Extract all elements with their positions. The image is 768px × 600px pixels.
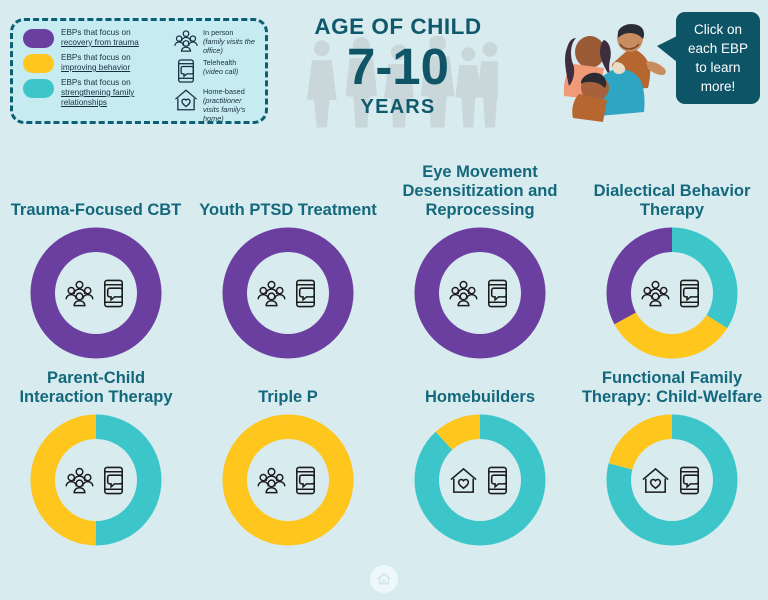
telehealth-phone-icon (290, 464, 321, 497)
donut-chart-trauma-focused-cbt[interactable] (30, 227, 162, 359)
legend-teal-emphasis: strengthening family relationships (61, 88, 134, 107)
donut-chart-triple-p[interactable] (222, 414, 354, 546)
legend-home-based-detail: (practitioner visits family's home) (203, 96, 245, 123)
donut-center-icons (247, 252, 329, 334)
ebp-card-dialectical-behavior-therapy[interactable]: Dialectical Behavior Therapy (576, 160, 768, 359)
ebp-card-functional-family-therapy-child-welfare[interactable]: Functional Family Therapy: Child-Welfare (576, 359, 768, 546)
legend-purple-emphasis: recovery from trauma (61, 38, 139, 47)
home-based-house-heart-icon (173, 87, 199, 113)
donut-chart-dialectical-behavior-therapy[interactable] (606, 227, 738, 359)
in-person-group-icon (640, 277, 671, 310)
legend-delivery-home-based: Home-based (practitioner visits family's… (173, 87, 257, 123)
donut-center-icons (631, 252, 713, 334)
donut-chart-homebuilders[interactable] (414, 414, 546, 546)
in-person-group-icon (256, 277, 287, 310)
header-title-block: AGE OF CHILD 7-10 YEARS (282, 8, 514, 140)
donut-chart-parent-child-interaction-therapy[interactable] (30, 414, 162, 546)
ebp-title: Trauma-Focused CBT (3, 160, 189, 220)
click-callout-bubble[interactable]: Click on each EBP to learn more! (676, 12, 760, 104)
in-person-group-icon (448, 277, 479, 310)
donut-center-icons (439, 252, 521, 334)
ebp-card-homebuilders[interactable]: Homebuilders (384, 359, 576, 546)
legend-telehealth-detail: (video call) (203, 67, 238, 76)
donut-center-icons (247, 439, 329, 521)
legend-yellow-emphasis: improving behavior (61, 63, 130, 72)
telehealth-phone-icon (482, 464, 513, 497)
legend-teal-prefix: EBPs that focus on (61, 78, 131, 87)
teal-swatch-icon (23, 79, 54, 98)
home-based-house-heart-icon (448, 464, 479, 497)
donut-chart-youth-ptsd-treatment[interactable] (222, 227, 354, 359)
ebp-card-youth-ptsd-treatment[interactable]: Youth PTSD Treatment (192, 160, 384, 359)
ebp-title: Functional Family Therapy: Child-Welfare (579, 359, 765, 407)
telehealth-phone-icon (674, 464, 705, 497)
home-based-house-heart-icon (640, 464, 671, 497)
home-button[interactable] (370, 565, 398, 593)
legend-item-teal: EBPs that focus on strengthening family … (23, 78, 171, 108)
ebp-title: Dialectical Behavior Therapy (579, 160, 765, 220)
legend-panel: EBPs that focus on recovery from trauma … (10, 18, 268, 124)
legend-home-based-label: Home-based (203, 87, 245, 96)
ebp-title: Eye Movement Desensitization and Reproce… (387, 160, 573, 220)
telehealth-phone-icon (674, 277, 705, 310)
page-title: AGE OF CHILD (282, 14, 514, 40)
donut-center-icons (55, 252, 137, 334)
family-illustration (534, 14, 684, 126)
ebp-title: Homebuilders (387, 359, 573, 407)
ebp-chart-grid: Trauma-Focused CBT (0, 160, 768, 546)
in-person-group-icon (64, 277, 95, 310)
legend-item-purple: EBPs that focus on recovery from trauma (23, 28, 171, 48)
ebp-card-emdr[interactable]: Eye Movement Desensitization and Reproce… (384, 160, 576, 359)
ebp-card-triple-p[interactable]: Triple P (192, 359, 384, 546)
ebp-card-parent-child-interaction-therapy[interactable]: Parent-Child Interaction Therapy (0, 359, 192, 546)
legend-telehealth-label: Telehealth (203, 58, 236, 67)
yellow-swatch-icon (23, 54, 54, 73)
donut-chart-emdr[interactable] (414, 227, 546, 359)
home-icon (376, 571, 392, 587)
legend-item-yellow: EBPs that focus on improving behavior (23, 53, 171, 73)
telehealth-phone-icon (482, 277, 513, 310)
age-range-value: 7-10 (282, 43, 514, 92)
legend-in-person-label: In person (203, 28, 233, 37)
donut-center-icons (439, 439, 521, 521)
ebp-title: Triple P (195, 359, 381, 407)
legend-color-key: EBPs that focus on recovery from trauma … (23, 28, 171, 115)
telehealth-phone-icon (290, 277, 321, 310)
years-label: YEARS (282, 96, 514, 119)
legend-delivery-key: In person (family visits the office) Tel… (171, 28, 257, 115)
donut-center-icons (631, 439, 713, 521)
ebp-title: Youth PTSD Treatment (195, 160, 381, 220)
donut-chart-functional-family-therapy-child-welfare[interactable] (606, 414, 738, 546)
telehealth-phone-icon (173, 58, 199, 84)
in-person-group-icon (64, 464, 95, 497)
legend-delivery-telehealth: Telehealth (video call) (173, 58, 257, 84)
ebp-title: Parent-Child Interaction Therapy (3, 359, 189, 407)
chart-row-2: Parent-Child Interaction Therapy (0, 359, 768, 546)
chart-row-1: Trauma-Focused CBT (0, 160, 768, 359)
in-person-group-icon (173, 28, 199, 54)
legend-yellow-prefix: EBPs that focus on (61, 53, 131, 62)
purple-swatch-icon (23, 29, 54, 48)
in-person-group-icon (256, 464, 287, 497)
telehealth-phone-icon (98, 277, 129, 310)
legend-delivery-in-person: In person (family visits the office) (173, 28, 257, 55)
legend-purple-prefix: EBPs that focus on (61, 28, 131, 37)
legend-in-person-detail: (family visits the office) (203, 37, 255, 55)
donut-center-icons (55, 439, 137, 521)
ebp-card-trauma-focused-cbt[interactable]: Trauma-Focused CBT (0, 160, 192, 359)
telehealth-phone-icon (98, 464, 129, 497)
